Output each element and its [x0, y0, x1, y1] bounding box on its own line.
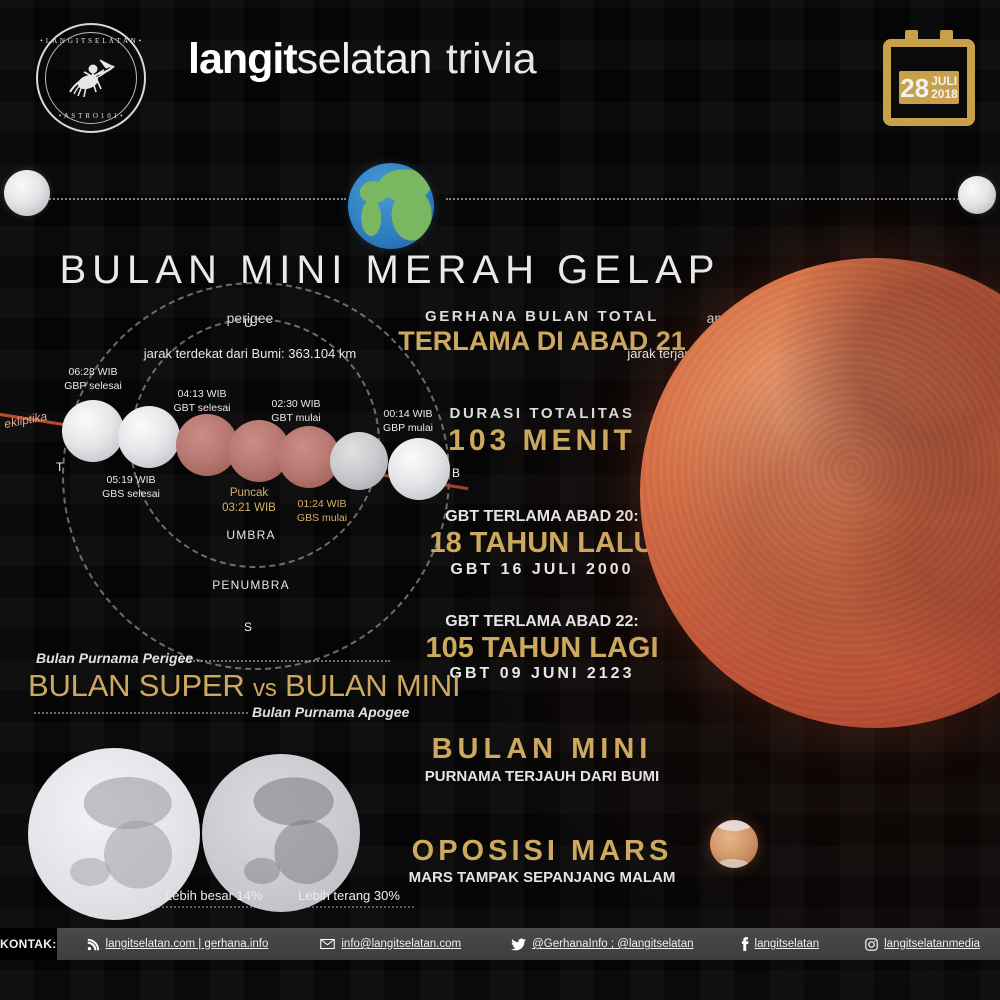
orbit-distance-band: perigee jarak terdekat dari Bumi: 363.10… [0, 150, 1000, 250]
mars-planet-icon [710, 820, 758, 868]
footer-link-website[interactable]: langitselatan.com | gerhana.info [75, 938, 281, 951]
compare-note-rule-brightness [288, 906, 414, 908]
orbit-dotted-line-right [446, 198, 982, 200]
phase-label-gbt-selesai: 04:13 WIB GBT selesai [148, 388, 256, 415]
twitter-icon [511, 938, 526, 951]
calendar-day: 28 [900, 75, 929, 101]
eclipse-peak-label: Puncak 03:21 WIB [194, 486, 304, 516]
west-mark: T [56, 460, 63, 474]
micromoon-title: BULAN MINI [392, 731, 692, 767]
instagram-icon [865, 938, 878, 951]
page-title: langitselatantrivia [188, 38, 537, 81]
spacer-3 [392, 583, 692, 613]
calendar-month-year: JULI 2018 [931, 75, 958, 100]
peak-title: Puncak [194, 486, 304, 501]
south-mark: S [244, 620, 252, 634]
footer-link-website-text: langitselatan.com | gerhana.info [106, 938, 269, 950]
compare-note-rule-size [150, 906, 280, 908]
umbra-label: UMBRA [196, 528, 306, 542]
footer-links-strip: langitselatan.com | gerhana.info info@la… [75, 928, 1000, 960]
mars-sub: MARS TAMPAK SEPANJANG MALAM [392, 869, 692, 886]
compare-bottom-label: Bulan Purnama Apogee [252, 704, 409, 720]
footer-link-facebook-text: langitselatan [755, 938, 820, 950]
footer-link-email-text: info@langitselatan.com [341, 938, 461, 950]
compare-bottom-rule [34, 712, 248, 714]
envelope-icon [320, 938, 335, 950]
logo-text-bottom: • A S T R O 1 0 1 • [38, 112, 144, 120]
header: • L A N G I T S E L A T A N • • A S T R … [0, 0, 1000, 150]
eclipse-type-headline: TERLAMA DI ABAD 21 [392, 325, 692, 357]
compare-title-vs: vs [253, 675, 277, 702]
facebook-icon [740, 937, 749, 951]
century22-label: GBT TERLAMA ABAD 22: [392, 613, 692, 631]
footer-link-twitter-text: @GerhanaInfo ; @langitselatan [532, 938, 693, 950]
mars-title: OPOSISI MARS [392, 833, 692, 869]
phase-label-gbt-mulai: 02:30 WIB GBT mulai [242, 398, 350, 425]
logo-text-top: • L A N G I T S E L A T A N • [38, 37, 144, 45]
rider-logo-icon [60, 52, 122, 104]
compare-top-label: Bulan Purnama Perigee [36, 650, 193, 666]
statistics-column: GERHANA BULAN TOTAL TERLAMA DI ABAD 21 D… [392, 308, 692, 890]
perigee-moon-icon [4, 170, 50, 216]
phase-time-3: 02:30 WIB [242, 398, 350, 412]
compare-title: BULAN SUPER vs BULAN MINI [28, 668, 460, 704]
calendar-icon: 28 JULI 2018 [883, 30, 975, 126]
compare-title-part2: BULAN MINI [285, 668, 460, 703]
footer-link-twitter[interactable]: @GerhanaInfo ; @langitselatan [499, 938, 705, 951]
footer-link-facebook[interactable]: langitselatan [728, 937, 832, 951]
phase-time-0: 06:28 WIB [38, 366, 148, 380]
calendar-year: 2018 [931, 88, 958, 101]
compare-note-size: Lebih besar 14% [165, 888, 263, 903]
peak-time: 03:21 WIB [194, 501, 304, 516]
spacer-1 [392, 361, 692, 405]
phase-time-2: 04:13 WIB [148, 388, 256, 402]
brand-part-3: trivia [446, 35, 537, 83]
eclipse-type-block: GERHANA BULAN TOTAL TERLAMA DI ABAD 21 [392, 308, 692, 357]
main-headline: BULAN MINI MERAH GELAP [0, 248, 780, 293]
brand-part-2: selatan [297, 35, 432, 83]
compare-top-rule [178, 660, 390, 662]
footer-link-email[interactable]: info@langitselatan.com [308, 938, 473, 950]
north-mark: U [244, 316, 253, 330]
calendar-month: JULI [931, 75, 958, 88]
calendar-date-screen: 28 JULI 2018 [899, 71, 959, 104]
footer-link-instagram[interactable]: langitselatanmedia [853, 938, 992, 951]
mars-opposition-block: OPOSISI MARS MARS TAMPAK SEPANJANG MALAM [392, 833, 692, 886]
penumbra-label: PENUMBRA [186, 578, 316, 592]
orbit-dotted-line-left [46, 198, 346, 200]
century22-value: 105 TAHUN LAGI [392, 631, 692, 666]
ecliptic-label: ekliptika [3, 409, 48, 431]
footer-contact-bar: KONTAK: langitselatan.com | gerhana.info… [0, 928, 1000, 960]
eclipse-type-label: GERHANA BULAN TOTAL [392, 308, 692, 325]
phase-event-2: GBT selesai [148, 402, 256, 416]
apogee-moon-icon [958, 176, 996, 214]
footer-kontak-label: KONTAK: [0, 928, 57, 960]
duration-label: DURASI TOTALITAS [392, 405, 692, 422]
calendar-body: 28 JULI 2018 [883, 39, 975, 126]
footer-link-instagram-text: langitselatanmedia [884, 938, 980, 950]
earth-globe-icon [348, 163, 434, 249]
eclipse-moon-6 [330, 432, 388, 490]
phase-time-1: 05:19 WIB [76, 474, 186, 488]
micromoon-block: BULAN MINI PURNAMA TERJAUH DARI BUMI [392, 731, 692, 784]
langitselatan-logo: • L A N G I T S E L A T A N • • A S T R … [36, 23, 146, 133]
rss-icon [87, 938, 100, 951]
brand-part-1: langit [188, 35, 297, 83]
micromoon-sub: PURNAMA TERJAUH DARI BUMI [392, 768, 692, 785]
phase-event-0: GBP selesai [38, 380, 148, 394]
eclipse-moon-2 [118, 406, 180, 468]
phase-event-1: GBS selesai [76, 488, 186, 502]
compare-title-part1: BULAN SUPER [28, 668, 245, 703]
eclipse-moon-1 [62, 400, 124, 462]
phase-label-gbs-selesai: 05:19 WIB GBS selesai [76, 474, 186, 501]
spacer-5 [392, 789, 692, 833]
compare-note-brightness: Lebih terang 30% [298, 888, 400, 903]
century20-date: GBT 16 JULI 2000 [392, 561, 692, 579]
phase-label-gbp-selesai: 06:28 WIB GBP selesai [38, 366, 148, 393]
phase-event-3: GBT mulai [242, 412, 350, 426]
